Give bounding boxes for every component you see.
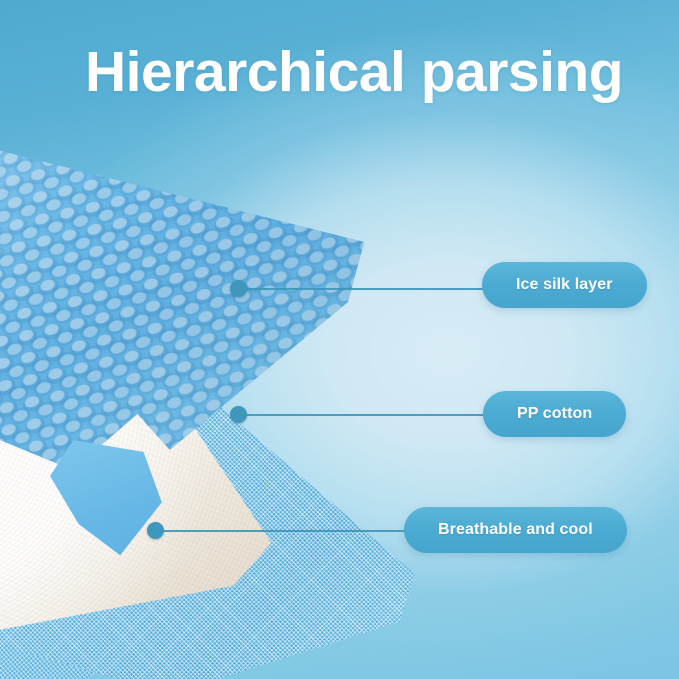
callout-pill-pp-cotton[interactable]: PP cotton <box>483 391 626 437</box>
callout-pill-breathable-and-cool[interactable]: Breathable and cool <box>404 507 627 553</box>
callout-line-breathable-and-cool <box>161 530 411 532</box>
callout-label-breathable-and-cool: Breathable and cool <box>438 521 593 539</box>
page-title: Hierarchical parsing <box>85 43 623 103</box>
callout-label-pp-cotton: PP cotton <box>517 405 592 423</box>
callout-line-ice-silk-layer <box>244 288 489 290</box>
callout-label-ice-silk-layer: Ice silk layer <box>516 276 613 294</box>
callout-pill-ice-silk-layer[interactable]: Ice silk layer <box>482 262 647 308</box>
callout-line-pp-cotton <box>244 414 490 416</box>
infographic-canvas: Hierarchical parsing Ice silk layer PP c… <box>0 0 679 679</box>
